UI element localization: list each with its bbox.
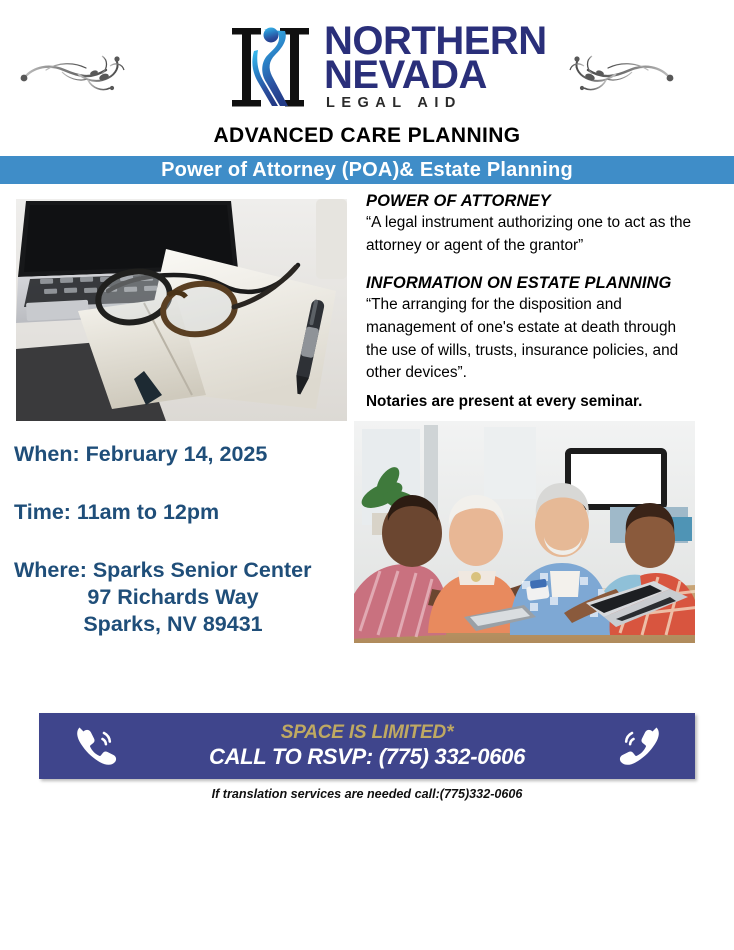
phone-ringing-icon — [77, 727, 119, 767]
definitions-column: POWER OF ATTORNEY “A legal instrument au… — [366, 192, 696, 411]
estate-definition: “The arranging for the disposition and m… — [366, 294, 696, 385]
space-limited-label: SPACE IS LIMITED* — [209, 722, 525, 744]
translation-note: If translation services are needed call:… — [0, 787, 734, 801]
phone-ringing-icon — [617, 727, 659, 767]
event-details: When: February 14, 2025 Time: 11am to 12… — [0, 442, 352, 637]
flyer-header: NORTHERN NEVADA LEGAL AID — [0, 0, 734, 118]
event-where: Where: Sparks Senior Center — [14, 558, 352, 583]
section-gap — [366, 257, 696, 274]
poa-heading: POWER OF ATTORNEY — [366, 192, 696, 211]
subtitle-banner: Power of Attorney (POA)& Estate Planning — [0, 156, 734, 184]
notaries-note: Notaries are present at every seminar. — [366, 393, 696, 411]
rsvp-banner: SPACE IS LIMITED* CALL TO RSVP: (775) 33… — [39, 713, 695, 779]
logo-name-line2: NEVADA — [324, 58, 547, 92]
estate-heading: INFORMATION ON ESTATE PLANNING — [366, 274, 696, 293]
rsvp-text-block: SPACE IS LIMITED* CALL TO RSVP: (775) 33… — [209, 722, 525, 770]
poa-definition: “A legal instrument authorizing one to a… — [366, 212, 696, 257]
organization-logo: NORTHERN NEVADA LEGAL AID — [228, 20, 547, 118]
page-title: ADVANCED CARE PLANNING — [0, 124, 734, 148]
seniors-photo — [354, 421, 695, 643]
filigree-flourish-icon — [566, 44, 678, 106]
logo-tagline: LEGAL AID — [326, 97, 547, 109]
northern-nevada-monogram-n-icon — [228, 20, 320, 118]
desk-photo — [16, 199, 347, 421]
rsvp-footer: SPACE IS LIMITED* CALL TO RSVP: (775) 33… — [0, 713, 734, 801]
event-when: When: February 14, 2025 — [14, 442, 352, 467]
event-address-line2: Sparks, NV 89431 — [0, 612, 352, 637]
subtitle-banner-label: Power of Attorney (POA)& Estate Planning — [161, 159, 573, 182]
filigree-flourish-icon — [16, 44, 128, 106]
call-to-rsvp-label[interactable]: CALL TO RSVP: (775) 332-0606 — [209, 744, 525, 770]
event-address-line1: 97 Richards Way — [0, 585, 352, 610]
event-time: Time: 11am to 12pm — [14, 500, 352, 525]
